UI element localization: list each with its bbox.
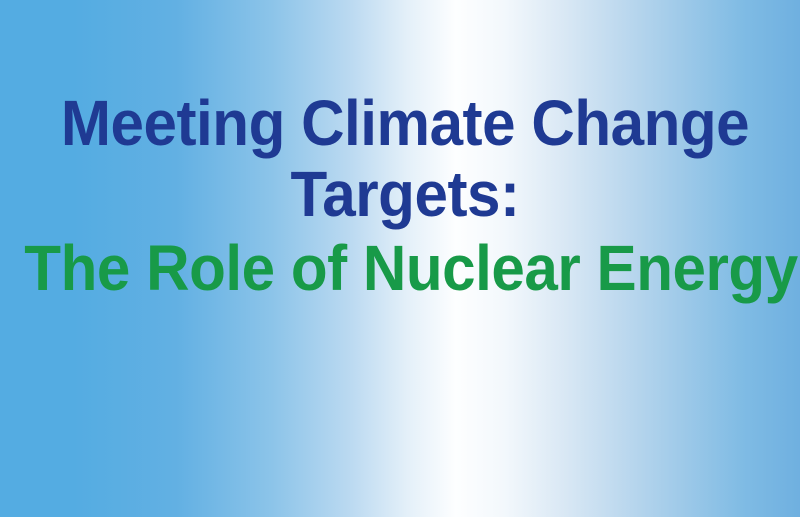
slide-title-line-1: Meeting Climate Change	[24, 88, 785, 159]
slide-title-line-2: Targets:	[24, 159, 785, 230]
title-slide: Meeting Climate Change Targets: The Role…	[0, 0, 800, 517]
title-block: Meeting Climate Change Targets: The Role…	[0, 88, 800, 304]
slide-subtitle: The Role of Nuclear Energy	[24, 233, 785, 304]
